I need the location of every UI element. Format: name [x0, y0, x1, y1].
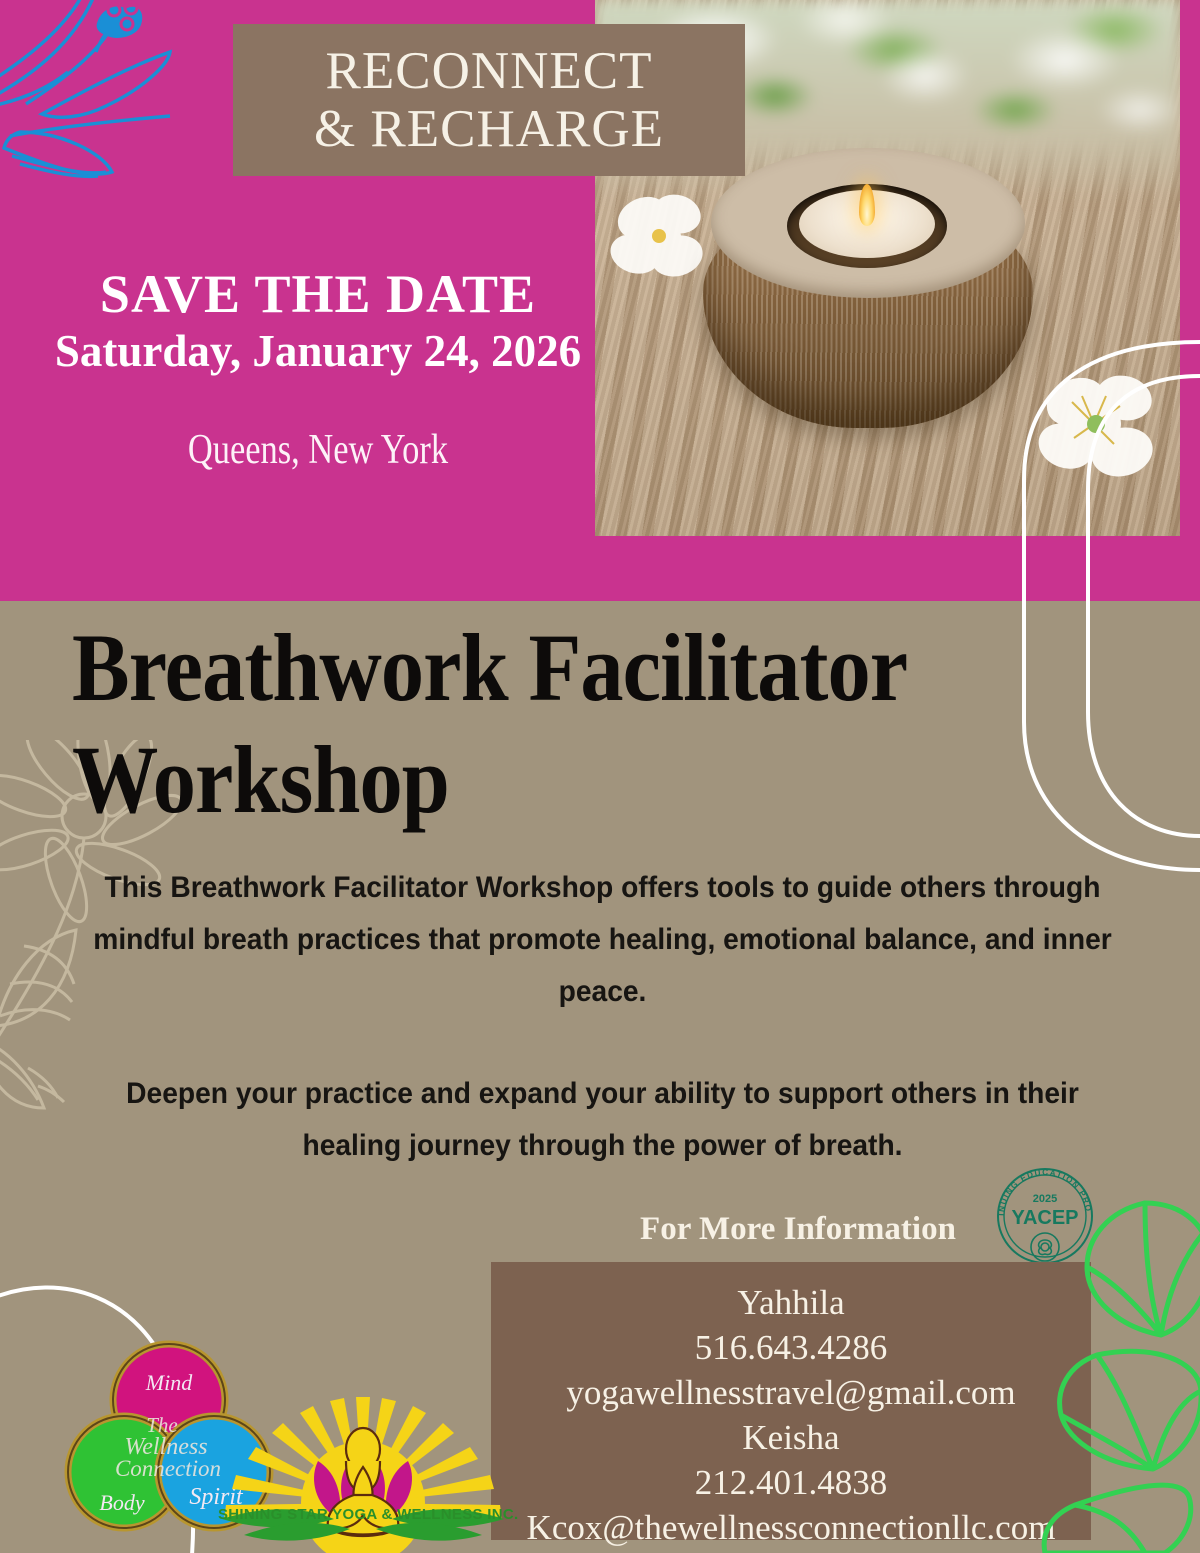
event-date: Saturday, January 24, 2026: [38, 325, 598, 377]
wellness-logo-body: Body: [99, 1490, 144, 1515]
contact-email-1[interactable]: yogawellnesstravel@gmail.com: [491, 1370, 1091, 1415]
reconnect-recharge-banner: RECONNECT & RECHARGE: [233, 24, 745, 176]
contact-name-2: Keisha: [491, 1415, 1091, 1460]
wellness-logo-mind: Mind: [145, 1370, 193, 1395]
header-line-2: & RECHARGE: [314, 100, 664, 158]
for-more-information-heading: For More Information: [498, 1208, 1098, 1250]
wooden-candle-holder: [703, 148, 1033, 428]
event-flyer: RECONNECT & RECHARGE SAVE THE DATE Satur…: [0, 0, 1200, 1553]
contact-name-1: Yahhila: [491, 1280, 1091, 1325]
event-location: Queens, New York: [88, 425, 547, 475]
description-paragraph-1: This Breathwork Facilitator Workshop off…: [93, 862, 1113, 1018]
contact-info-box: Yahhila 516.643.4286 yogawellnesstravel@…: [491, 1262, 1091, 1540]
magenta-strip-under-photo: [595, 536, 1200, 601]
wellness-logo-name-3: Connection: [115, 1456, 221, 1481]
yacep-year: 2025: [1033, 1193, 1057, 1205]
blossom-bottom-right-icon: [1030, 362, 1180, 500]
contact-email-2[interactable]: Kcox@thewellnessconnectionllc.com: [491, 1505, 1091, 1550]
blue-botanical-decoration-icon: [0, 0, 250, 206]
save-the-date-title: SAVE THE DATE: [38, 265, 598, 323]
description-paragraph-2: Deepen your practice and expand your abi…: [93, 1068, 1113, 1172]
page-title: Breathwork Facilitator Workshop: [72, 612, 936, 836]
shining-star-logo-text: SHINING STAR YOGA & WELLNESS INC.: [218, 1506, 508, 1523]
save-the-date-block: SAVE THE DATE Saturday, January 24, 2026…: [38, 265, 598, 475]
contact-phone-1[interactable]: 516.643.4286: [491, 1325, 1091, 1370]
contact-phone-2[interactable]: 212.401.4838: [491, 1460, 1091, 1505]
shining-star-yoga-logo: [218, 1395, 508, 1553]
header-line-1: RECONNECT: [326, 42, 653, 100]
